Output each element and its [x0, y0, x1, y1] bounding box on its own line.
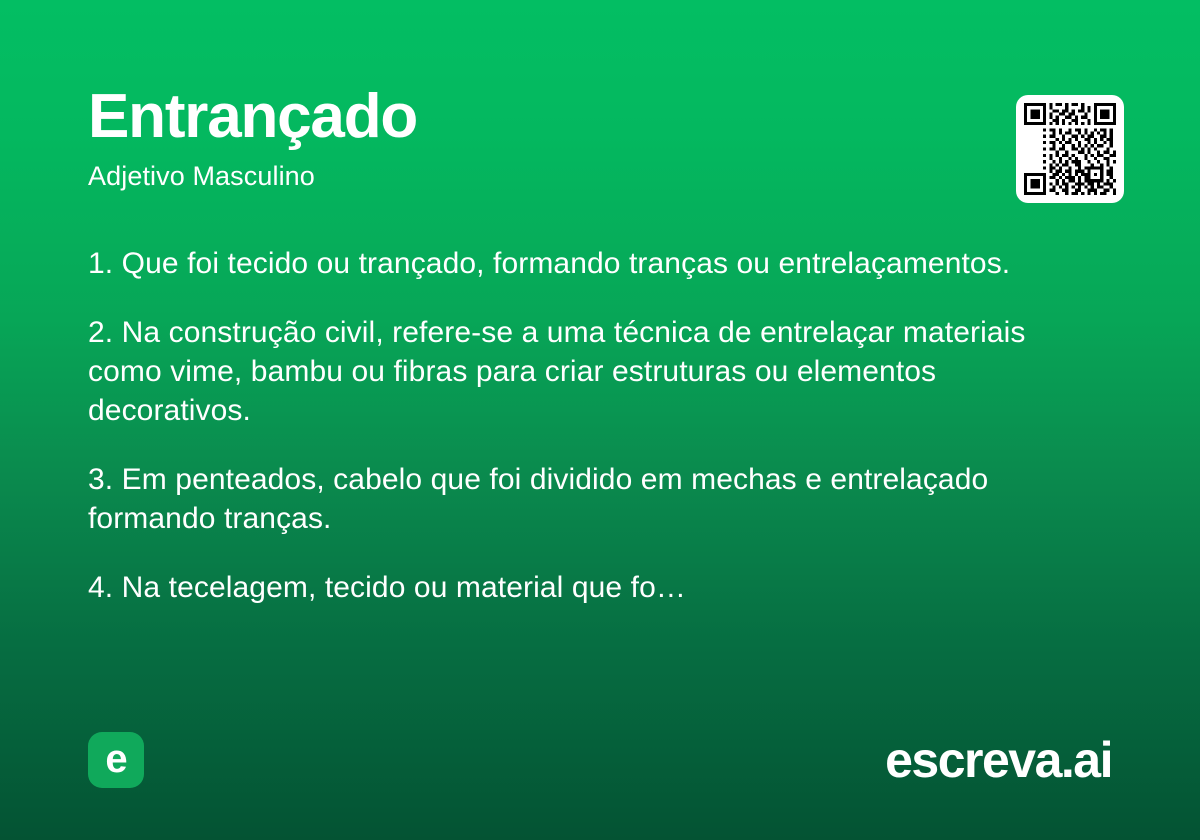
card-footer: e escreva.ai: [88, 732, 1112, 788]
word-class-label: Adjetivo Masculino: [88, 162, 1112, 192]
definition-item: 4. Na tecelagem, tecido ou material que …: [88, 568, 1088, 607]
definition-item: 3. Em penteados, cabelo que foi dividido…: [88, 460, 1088, 538]
escreva-logo-icon: e: [88, 732, 144, 788]
qr-code[interactable]: [1016, 95, 1124, 203]
definition-item: 2. Na construção civil, refere-se a uma …: [88, 313, 1088, 430]
definition-item: 1. Que foi tecido ou trançado, formando …: [88, 244, 1088, 283]
page-title: Entrançado: [88, 86, 1112, 148]
definition-list: 1. Que foi tecido ou trançado, formando …: [88, 244, 1088, 607]
qr-code-icon: [1024, 103, 1116, 195]
definition-card: Entrançado Adjetivo Masculino: [0, 0, 1200, 840]
card-header: Entrançado Adjetivo Masculino: [88, 86, 1112, 192]
logo-letter: e: [105, 739, 126, 779]
brand-wordmark: escreva.ai: [885, 735, 1112, 785]
